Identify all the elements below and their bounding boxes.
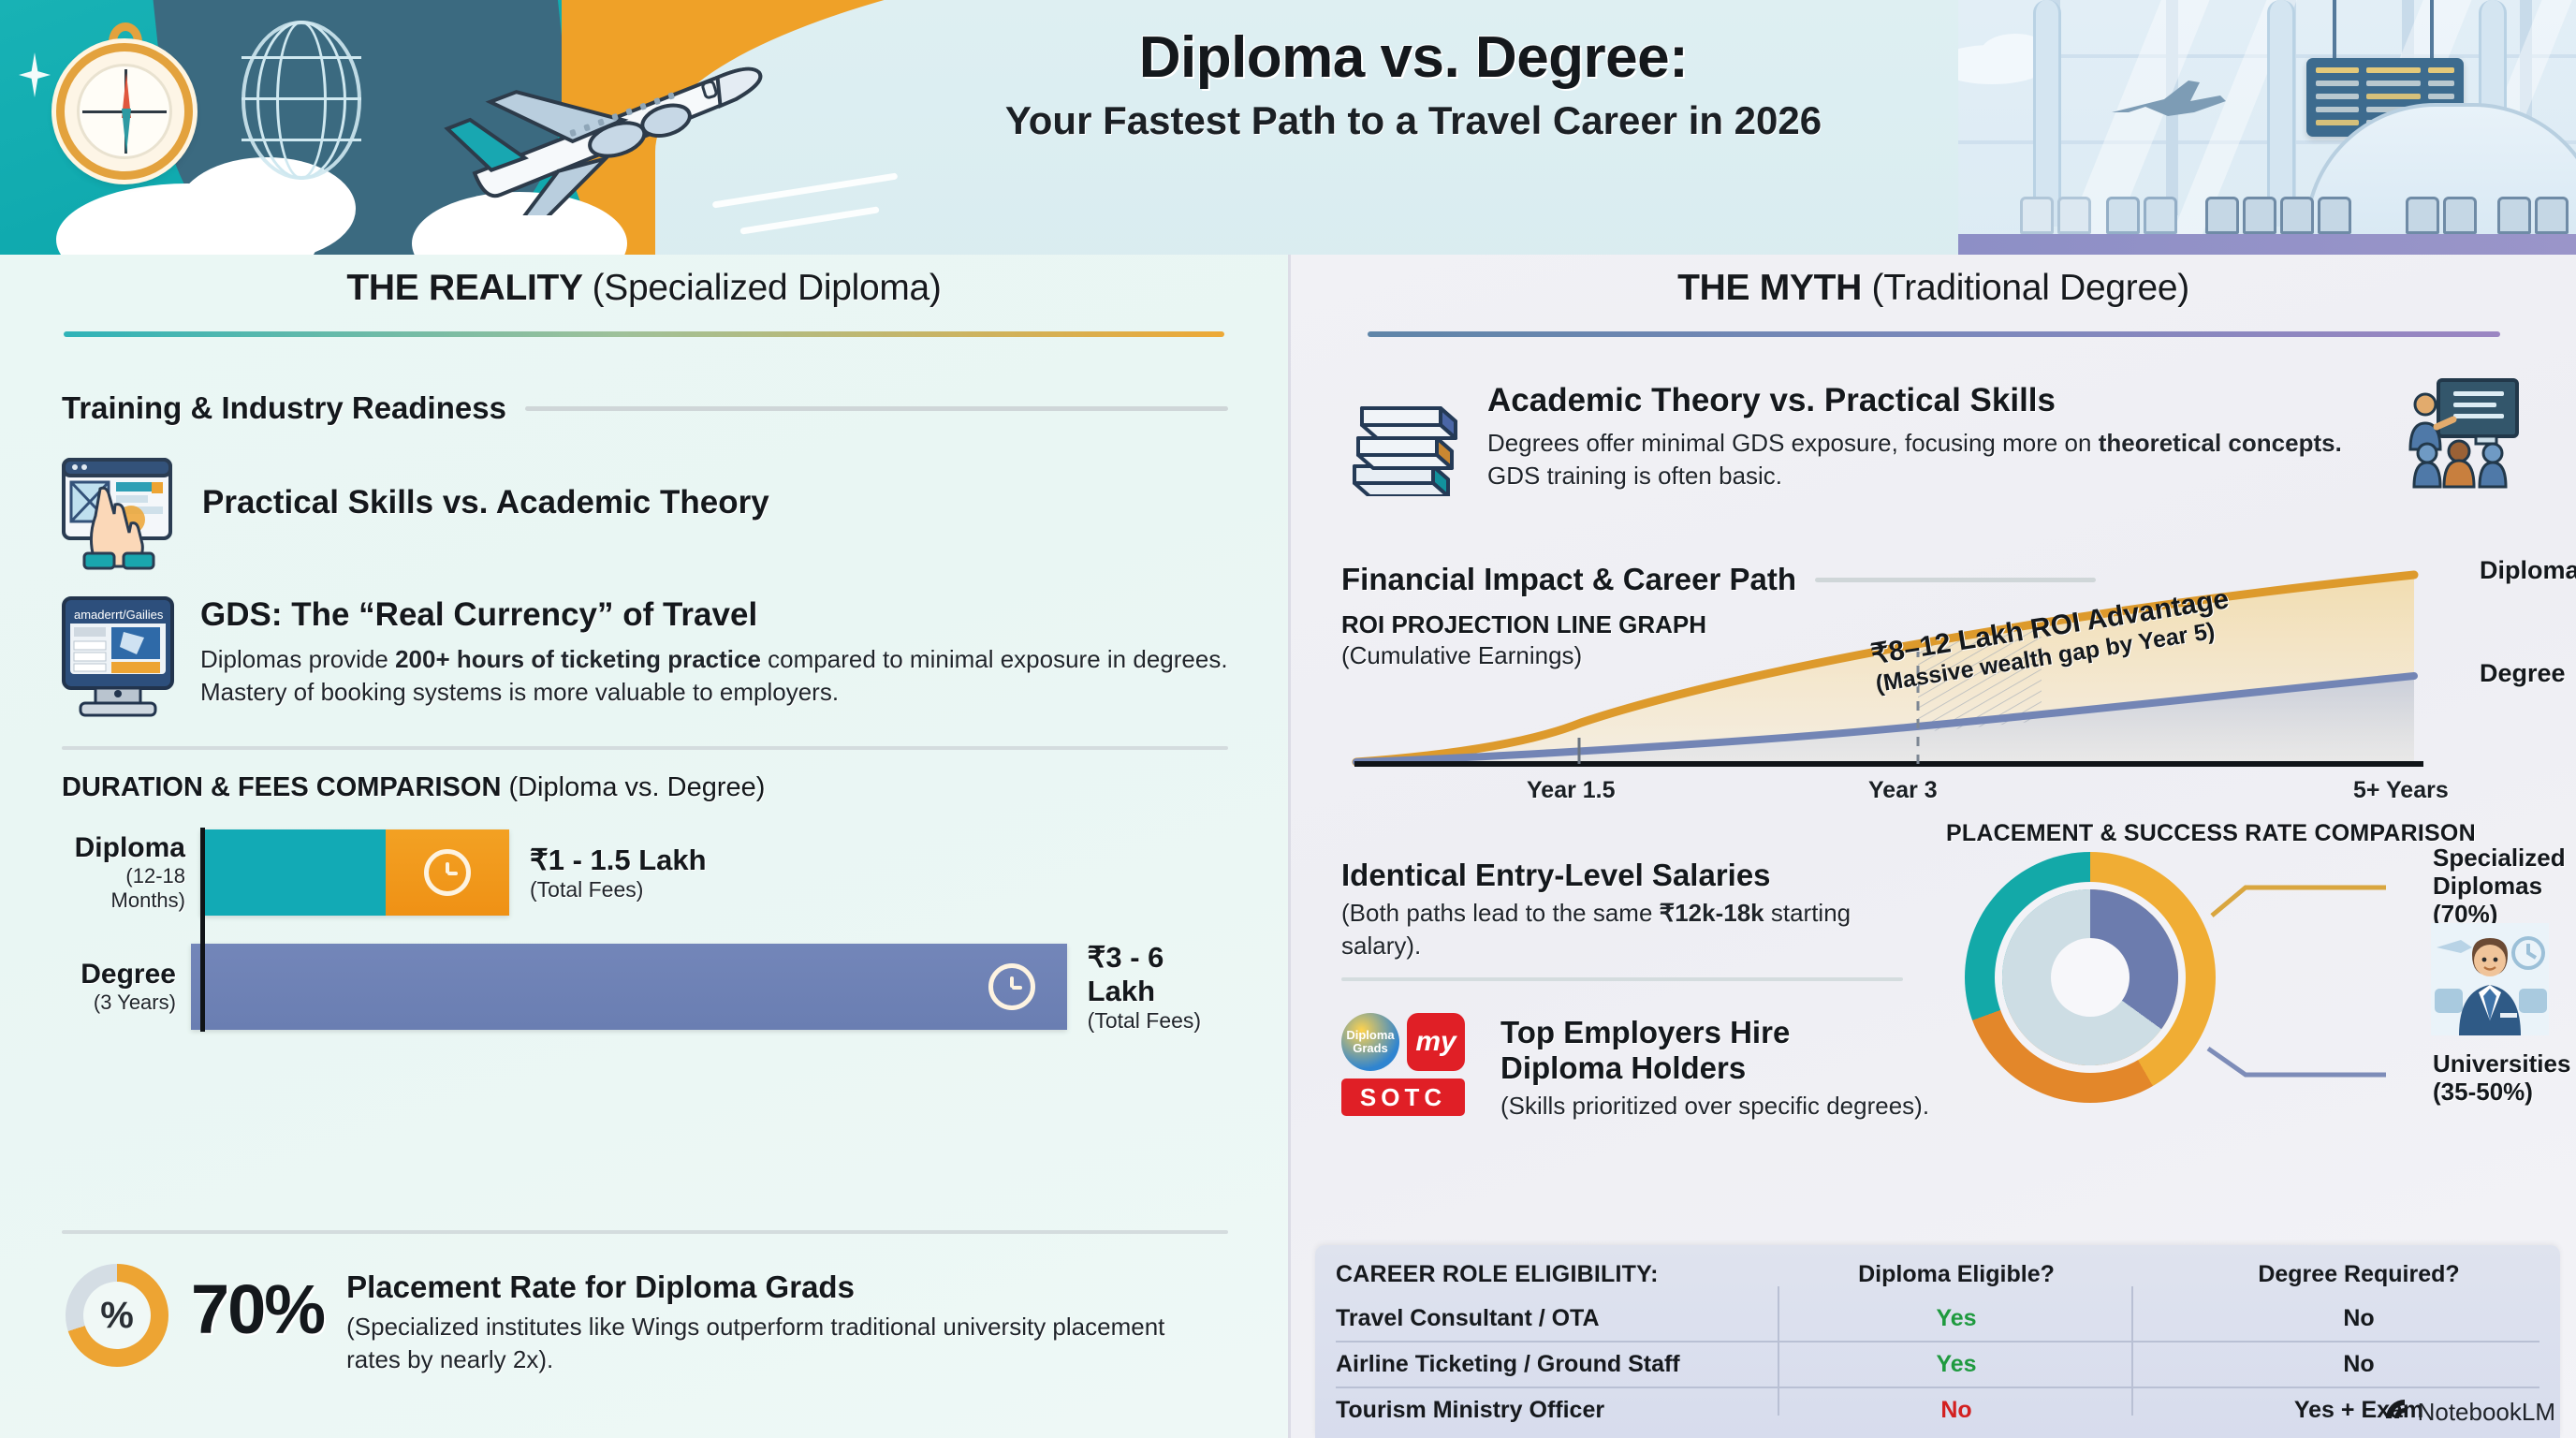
career-eligibility-table: CAREER ROLE ELIGIBILITY: Diploma Eligibl…: [1315, 1245, 2560, 1438]
table-row: Tourism Ministry Officer No Yes + Exam: [1315, 1388, 2560, 1432]
employers-block: Diploma Grads my SOTC Top Employers Hire…: [1341, 1013, 1987, 1123]
placement-rate-value: 70%: [191, 1264, 324, 1349]
practical-skills-item: Practical Skills vs. Academic Theory: [62, 458, 1228, 570]
books-stack-icon: [1341, 376, 1465, 496]
employer-logo-diplomagrads: Diploma Grads: [1341, 1013, 1399, 1071]
table-vline: [2131, 1286, 2133, 1416]
donut-legend-diplomas: Specialized Diplomas (70%): [2433, 844, 2566, 929]
table-cell-degree: No: [2158, 1351, 2560, 1378]
section-rule: [525, 406, 1228, 411]
fees-caption-strong: DURATION & FEES COMPARISON: [62, 772, 501, 802]
fees-chart-caption: D DURATION & FEES COMPARISON (Diploma vs…: [62, 772, 1228, 803]
placement-donut-chart: Specialized Diplomas (70%) Universities …: [1965, 852, 2216, 1103]
table-header-row: CAREER ROLE ELIGIBILITY: Diploma Eligibl…: [1315, 1253, 2560, 1297]
page-title: Diploma vs. Degree:: [805, 24, 2022, 91]
placement-rate-block: 70% Placement Rate for Diploma Grads (Sp…: [66, 1264, 1170, 1376]
employers-title-line1: Top Employers Hire: [1500, 1015, 1987, 1050]
donut-hole: [2051, 938, 2130, 1017]
roi-tick-5plus: 5+ Years: [2353, 777, 2449, 804]
table-cell-diploma: No: [1755, 1397, 2158, 1424]
donut-leader-lines: [2199, 865, 2405, 1099]
title-block: Diploma vs. Degree: Your Fastest Path to…: [805, 24, 2022, 143]
academic-body-part1: Degrees offer minimal GDS exposure, focu…: [1487, 429, 2099, 457]
roi-projection-chart: ₹8–12 Lakh ROI Advantage (Massive wealth…: [1347, 562, 2503, 800]
bar-value-diploma-note: (Total Fees): [530, 877, 707, 902]
legend-universities-l2: (35-50%): [2433, 1078, 2570, 1107]
classroom-lecture-icon: [2399, 376, 2521, 489]
left-panel-reality: THE REALITY (Specialized Diploma) Traini…: [0, 255, 1288, 1438]
academic-body-part2: GDS training is often basic.: [1487, 462, 1782, 490]
donut-legend-universities: Universities (35-50%): [2433, 1050, 2570, 1107]
notebooklm-label: NotebookLM: [2418, 1398, 2555, 1427]
table-cell-role: Travel Consultant / OTA: [1315, 1305, 1755, 1332]
bar-row-degree: Degree (3 Years) ₹3 - 6 Lakh (Total Fees…: [62, 942, 1228, 1032]
practical-skills-title: Practical Skills vs. Academic Theory: [202, 484, 769, 521]
bar-value-degree-amount: ₹3 - 6 Lakh: [1088, 941, 1228, 1008]
salary-body-part1: (Both paths lead to the same: [1341, 899, 1660, 927]
airplane-silhouette-icon: [2108, 75, 2230, 120]
right-divider-1: [1341, 977, 1903, 981]
placement-rate-title: Placement Rate for Diploma Grads: [346, 1269, 1170, 1305]
gds-item: amaderrt/Gailies: [62, 596, 1228, 720]
bar-label-degree-name: Degree: [62, 959, 176, 990]
fees-caption-paren: (Diploma vs. Degree): [508, 772, 765, 802]
clock-icon: [988, 963, 1035, 1010]
roi-tick-year3: Year 3: [1868, 777, 1938, 804]
bar-diploma-orange-segment: [386, 829, 509, 916]
right-column-heading: THE MYTH (Traditional Degree): [1291, 255, 2576, 309]
globe-icon: [241, 21, 361, 180]
donut-chart-caption: PLACEMENT & SUCCESS RATE COMPARISON: [1946, 820, 2476, 847]
salary-body: (Both paths lead to the same ₹12k-18k st…: [1341, 897, 1922, 962]
legend-universities-l1: Universities: [2433, 1050, 2570, 1078]
clock-icon: [424, 849, 471, 896]
legend-diplomas-l1: Specialized: [2433, 844, 2566, 873]
bar-diploma-teal-segment: [200, 829, 386, 916]
right-header-rule: [1368, 331, 2500, 337]
employers-body: (Skills prioritized over specific degree…: [1500, 1090, 1987, 1123]
academic-theory-item: Academic Theory vs. Practical Skills Deg…: [1341, 376, 2558, 496]
compass-icon: [49, 21, 200, 187]
bar-degree: [191, 944, 1067, 1030]
bar-value-degree-note: (Total Fees): [1088, 1008, 1228, 1034]
percent-donut-icon: [66, 1264, 168, 1367]
salary-block: Identical Entry-Level Salaries (Both pat…: [1341, 858, 1922, 981]
desktop-monitor-gds-icon: amaderrt/Gailies: [62, 596, 174, 720]
employer-logo-label-3: SOTC: [1360, 1083, 1446, 1112]
employer-logo-label-2: my: [1415, 1026, 1456, 1058]
airplane-icon: [426, 9, 819, 215]
bar-label-diploma: Diploma (12-18 Months): [62, 832, 200, 913]
gds-body: Diplomas provide 200+ hours of ticketing…: [200, 643, 1228, 709]
table-cell-role: Airline Ticketing / Ground Staff: [1315, 1351, 1755, 1378]
gds-body-emphasis: 200+ hours of ticketing practice: [395, 645, 761, 673]
employers-title-line2: Diploma Holders: [1500, 1050, 1987, 1086]
bar-diploma: [200, 829, 509, 916]
bar-label-degree: Degree (3 Years): [62, 959, 191, 1015]
table-col-degree: Degree Required?: [2158, 1261, 2560, 1288]
salary-body-emphasis: ₹12k-18k: [1660, 899, 1764, 927]
gds-body-part1: Diplomas provide: [200, 645, 395, 673]
table-col-role: CAREER ROLE ELIGIBILITY:: [1315, 1261, 1755, 1288]
table-cell-diploma: Yes: [1755, 1305, 2158, 1332]
right-heading-strong: THE MYTH: [1677, 268, 1862, 308]
header-banner: Diploma vs. Degree: Your Fastest Path to…: [0, 0, 2576, 255]
cursor-click-browser-icon: [62, 458, 176, 570]
academic-theory-body: Degrees offer minimal GDS exposure, focu…: [1487, 427, 2377, 492]
svg-text:amaderrt/Gailies: amaderrt/Gailies: [74, 608, 164, 622]
travel-agent-avatar-icon: [2431, 923, 2549, 1035]
left-divider-1: [62, 746, 1228, 750]
bar-label-diploma-name: Diploma: [62, 832, 185, 864]
notebooklm-watermark: NotebookLM: [2382, 1396, 2555, 1429]
right-panel-myth: THE MYTH (Traditional Degree): [1288, 255, 2576, 1438]
table-cell-degree: No: [2158, 1305, 2560, 1332]
table-cell-diploma: Yes: [1755, 1351, 2158, 1378]
legend-diplomas-l2: Diplomas: [2433, 873, 2566, 901]
left-column-heading: THE REALITY (Specialized Diploma): [0, 255, 1288, 309]
infographic-page: Diploma vs. Degree: Your Fastest Path to…: [0, 0, 2576, 1438]
table-row: Airline Ticketing / Ground Staff Yes No: [1315, 1343, 2560, 1387]
donut-rings: [1965, 852, 2216, 1103]
salary-title: Identical Entry-Level Salaries: [1341, 858, 1922, 893]
employer-logo-label-1: Diploma Grads: [1341, 1029, 1399, 1054]
bar-value-diploma-amount: ₹1 - 1.5 Lakh: [530, 844, 707, 877]
gds-title: GDS: The “Real Currency” of Travel: [200, 596, 1228, 634]
table-row: Travel Consultant / OTA Yes No: [1315, 1297, 2560, 1341]
chart-y-axis: [200, 828, 205, 1032]
bar-row-diploma: Diploma (12-18 Months) ₹1 - 1.5 Lakh: [62, 828, 1228, 917]
table-cell-role: Tourism Ministry Officer: [1315, 1397, 1755, 1424]
page-subtitle: Your Fastest Path to a Travel Career in …: [805, 98, 2022, 143]
left-heading-paren: (Specialized Diploma): [593, 268, 942, 308]
bar-value-degree: ₹3 - 6 Lakh (Total Fees): [1088, 941, 1228, 1034]
notebooklm-logo-icon: [2382, 1396, 2408, 1429]
table-col-diploma: Diploma Eligible?: [1755, 1261, 2158, 1288]
left-header-rule: [64, 331, 1224, 337]
academic-body-emphasis: theoretical concepts.: [2099, 429, 2342, 457]
roi-tick-year15: Year 1.5: [1527, 777, 1616, 804]
left-heading-strong: THE REALITY: [346, 268, 582, 308]
employer-logo-sotc: SOTC: [1341, 1078, 1465, 1116]
airport-terminal-illustration: [1958, 0, 2576, 255]
bar-label-degree-sub: (3 Years): [62, 990, 176, 1015]
training-section-title: Training & Industry Readiness: [62, 390, 1228, 426]
left-divider-2: [62, 1230, 1228, 1234]
bar-value-diploma: ₹1 - 1.5 Lakh (Total Fees): [530, 844, 707, 902]
roi-legend-diploma: Diploma: [2480, 556, 2576, 585]
right-heading-paren: (Traditional Degree): [1872, 268, 2189, 308]
fees-bar-chart: Diploma (12-18 Months) ₹1 - 1.5 Lakh: [62, 828, 1228, 1032]
table-vline: [1778, 1286, 1779, 1416]
training-section-label: Training & Industry Readiness: [62, 390, 506, 426]
employer-logo-my: my: [1407, 1013, 1465, 1071]
bar-label-diploma-sub: (12-18 Months): [62, 864, 185, 913]
placement-rate-body: (Specialized institutes like Wings outpe…: [346, 1311, 1170, 1376]
roi-legend-degree: Degree: [2480, 659, 2566, 688]
academic-theory-title: Academic Theory vs. Practical Skills: [1487, 382, 2377, 419]
employer-logos: Diploma Grads my SOTC: [1341, 1013, 1482, 1116]
